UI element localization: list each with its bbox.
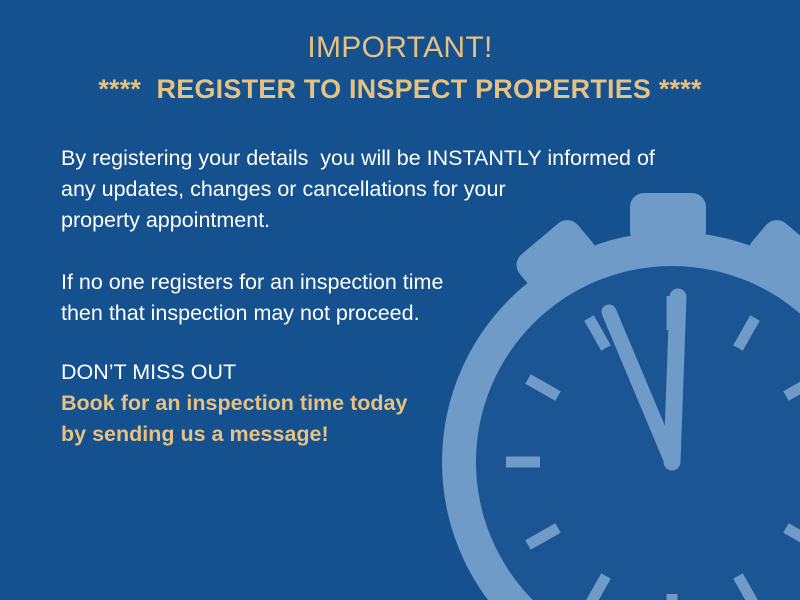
paragraph-spacer-2 bbox=[61, 329, 721, 357]
slide-content: IMPORTANT! **** REGISTER TO INSPECT PROP… bbox=[0, 0, 800, 600]
page-subtitle: **** REGISTER TO INSPECT PROPERTIES **** bbox=[0, 68, 800, 110]
paragraph1-line3: property appointment. bbox=[61, 205, 721, 236]
slide-canvas: IMPORTANT! **** REGISTER TO INSPECT PROP… bbox=[0, 0, 800, 600]
paragraph2-line1: If no one registers for an inspection ti… bbox=[61, 267, 721, 298]
paragraph1-line1: By registering your details you will be … bbox=[61, 143, 721, 174]
paragraph1-line2: any updates, changes or cancellations fo… bbox=[61, 174, 721, 205]
paragraph-spacer-1 bbox=[61, 236, 721, 267]
paragraph2-line2: then that inspection may not proceed. bbox=[61, 298, 721, 329]
cta-line-send-message: by sending us a message! bbox=[61, 419, 721, 450]
page-title: IMPORTANT! bbox=[0, 28, 800, 68]
cta-line-dont-miss-out: DON’T MISS OUT bbox=[61, 357, 721, 388]
body-block: By registering your details you will be … bbox=[61, 143, 721, 450]
cta-line-book-inspection: Book for an inspection time today bbox=[61, 388, 721, 419]
heading-block: IMPORTANT! **** REGISTER TO INSPECT PROP… bbox=[0, 28, 800, 110]
